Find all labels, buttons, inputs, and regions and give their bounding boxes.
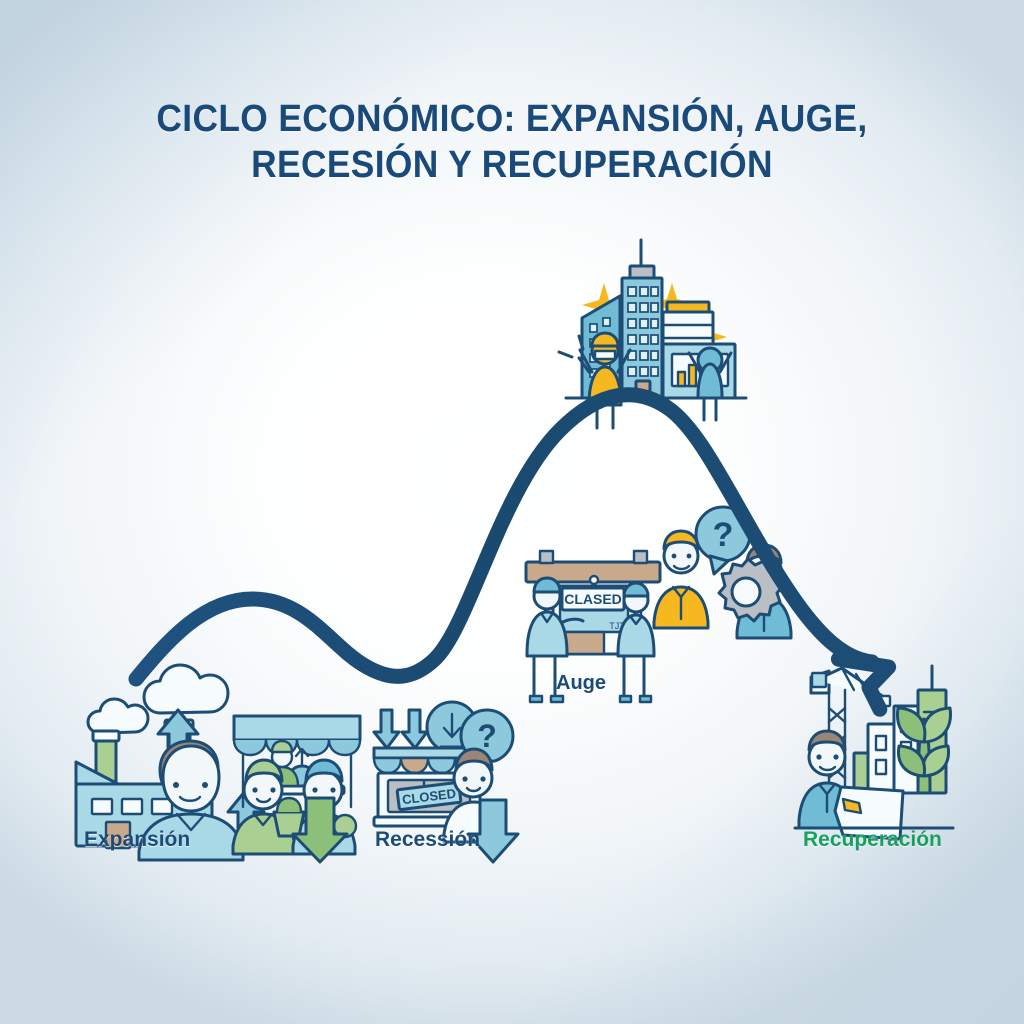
- curve-path: [136, 395, 872, 679]
- label-recesion: Recessión: [375, 828, 480, 852]
- label-recuperacion: Recuperación: [803, 828, 942, 852]
- illustration-stage: .st{stroke:#1d4d75;stroke-width:3;stroke…: [0, 0, 1024, 1024]
- label-auge: Auge: [556, 672, 606, 695]
- business-cycle-curve: [0, 0, 1024, 1024]
- infographic-canvas: CICLO ECONÓMICO: EXPANSIÓN, AUGE, RECESI…: [0, 0, 1024, 1024]
- label-expansion: Expansión: [84, 828, 190, 852]
